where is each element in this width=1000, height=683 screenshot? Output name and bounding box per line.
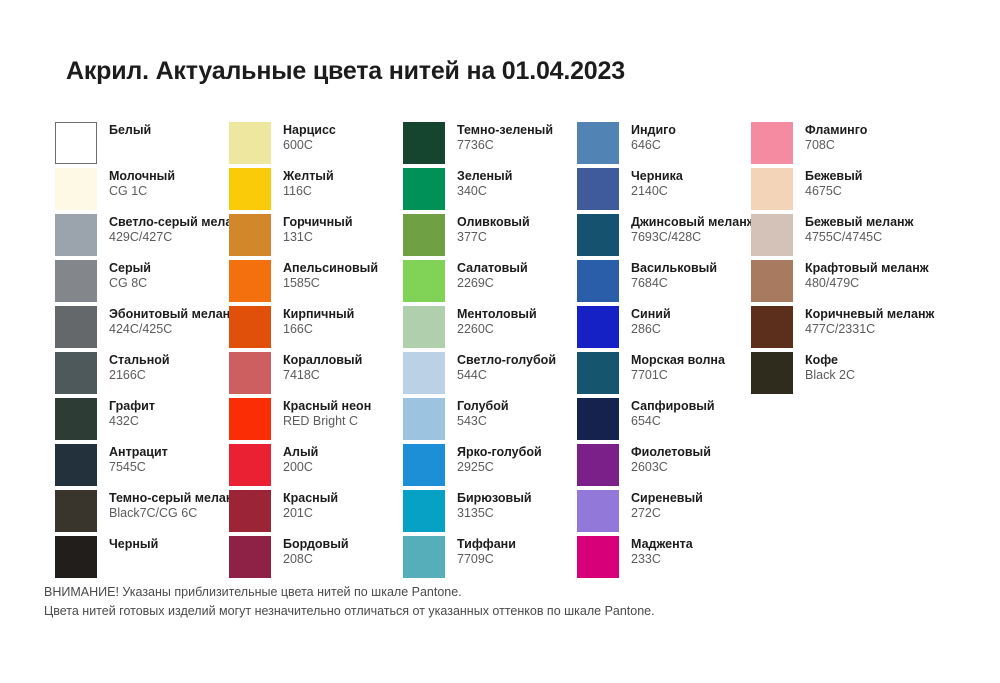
color-code: 646C [631,138,751,153]
swatch-row[interactable]: Джинсовый меланж 7693C/428C [577,214,751,260]
swatch-labels: Коричневый меланж 477C/2331C [793,306,951,337]
swatch-labels: Белый [97,122,229,138]
swatch-labels: Васильковый 7684C [619,260,751,291]
swatch-labels: Оливковый 377C [445,214,577,245]
color-name: Сапфировый [631,399,751,414]
swatch-labels: Темно-зеленый 7736C [445,122,577,153]
swatch-row[interactable]: Кирпичный 166C [229,306,403,352]
color-swatch[interactable] [751,352,793,394]
color-code: 208C [283,552,403,567]
swatch-row[interactable]: Светло-серый меланж 429C/427C [55,214,229,260]
color-swatch[interactable] [229,214,271,256]
color-code: 7736C [457,138,577,153]
swatch-labels: Алый 200C [271,444,403,475]
swatch-row[interactable]: Кофе Black 2C [751,352,951,398]
swatch-labels: Кофе Black 2C [793,352,951,383]
swatch-column-5: Фламинго 708C Бежевый 4675C Бежевый мела… [751,122,951,582]
color-swatch[interactable] [55,398,97,440]
color-swatch[interactable] [751,214,793,256]
color-name: Бирюзовый [457,491,577,506]
color-swatch[interactable] [229,260,271,302]
color-code: 2925C [457,460,577,475]
swatch-labels: Фламинго 708C [793,122,951,153]
color-name: Светло-серый меланж [109,215,229,230]
swatch-row[interactable]: Белый [55,122,229,168]
swatch-labels: Черный [97,536,229,552]
swatch-row[interactable]: Коричневый меланж 477C/2331C [751,306,951,352]
color-code: 166C [283,322,403,337]
swatch-row[interactable]: Ярко-голубой 2925C [403,444,577,490]
color-code: Black 2C [805,368,951,383]
color-swatch[interactable] [55,490,97,532]
swatch-row[interactable]: Салатовый 2269C [403,260,577,306]
swatch-column-1: Белый Молочный CG 1C Светло-серый меланж… [55,122,229,582]
color-code: RED Bright C [283,414,403,429]
color-code: 4755C/4745C [805,230,951,245]
color-swatch[interactable] [403,260,445,302]
color-swatch[interactable] [751,168,793,210]
swatch-row[interactable]: Сиреневый 272C [577,490,751,536]
swatch-labels: Бежевый меланж 4755C/4745C [793,214,951,245]
color-name: Зеленый [457,169,577,184]
swatch-row[interactable]: Ментоловый 2260C [403,306,577,352]
color-code: 200C [283,460,403,475]
swatch-row[interactable]: Серый CG 8C [55,260,229,306]
swatch-labels: Бежевый 4675C [793,168,951,199]
color-code: 2140C [631,184,751,199]
color-code: 286C [631,322,751,337]
color-code: Black7C/CG 6C [109,506,229,521]
color-code: 429C/427C [109,230,229,245]
color-name: Джинсовый меланж [631,215,751,230]
color-swatch[interactable] [55,444,97,486]
color-code: 600C [283,138,403,153]
swatch-row[interactable]: Коралловый 7418C [229,352,403,398]
color-swatch[interactable] [577,490,619,532]
swatch-labels: Стальной 2166C [97,352,229,383]
swatch-column-3: Темно-зеленый 7736C Зеленый 340C Оливков… [403,122,577,582]
color-swatch[interactable] [55,168,97,210]
color-swatch[interactable] [403,398,445,440]
swatch-row[interactable]: Апельсиновый 1585C [229,260,403,306]
color-code: 654C [631,414,751,429]
color-name: Желтый [283,169,403,184]
color-name: Апельсиновый [283,261,403,276]
color-swatch[interactable] [55,352,97,394]
swatch-labels: Крафтовый меланж 480/479C [793,260,951,291]
swatch-labels: Светло-серый меланж 429C/427C [97,214,229,245]
color-code: 2269C [457,276,577,291]
color-code: 7418C [283,368,403,383]
color-swatch[interactable] [55,260,97,302]
color-name: Молочный [109,169,229,184]
swatch-labels: Фиолетовый 2603C [619,444,751,475]
color-name: Нарцисс [283,123,403,138]
color-swatch[interactable] [403,122,445,164]
swatch-labels: Маджента 233C [619,536,751,567]
color-name: Бордовый [283,537,403,552]
color-name: Кофе [805,353,951,368]
swatch-labels: Синий 286C [619,306,751,337]
swatch-labels: Графит 432C [97,398,229,429]
color-name: Эбонитовый меланж [109,307,229,322]
color-swatch[interactable] [403,444,445,486]
swatch-labels: Сиреневый 272C [619,490,751,521]
color-code: 340C [457,184,577,199]
color-swatch[interactable] [403,536,445,578]
color-code: CG 1C [109,184,229,199]
swatch-labels: Антрацит 7545C [97,444,229,475]
color-swatch[interactable] [55,122,97,164]
color-code: 477C/2331C [805,322,951,337]
color-name: Крафтовый меланж [805,261,951,276]
color-name: Алый [283,445,403,460]
swatch-row[interactable]: Бежевый 4675C [751,168,951,214]
color-name: Кирпичный [283,307,403,322]
swatch-labels: Зеленый 340C [445,168,577,199]
swatch-labels: Бирюзовый 3135C [445,490,577,521]
color-name: Стальной [109,353,229,368]
swatch-row[interactable]: Фламинго 708C [751,122,951,168]
swatch-row[interactable]: Бордовый 208C [229,536,403,582]
swatch-row[interactable]: Горчичный 131C [229,214,403,260]
color-name: Бежевый меланж [805,215,951,230]
swatch-row[interactable]: Светло-голубой 544C [403,352,577,398]
color-swatch[interactable] [229,122,271,164]
color-name: Темно-зеленый [457,123,577,138]
swatch-row[interactable]: Фиолетовый 2603C [577,444,751,490]
color-swatch[interactable] [229,444,271,486]
color-swatch[interactable] [55,214,97,256]
swatch-row[interactable]: Молочный CG 1C [55,168,229,214]
swatch-row[interactable]: Бирюзовый 3135C [403,490,577,536]
swatch-labels: Сапфировый 654C [619,398,751,429]
color-swatch[interactable] [751,260,793,302]
color-code: 116C [283,184,403,199]
swatch-labels: Ярко-голубой 2925C [445,444,577,475]
swatch-labels: Салатовый 2269C [445,260,577,291]
swatch-row[interactable]: Эбонитовый меланж 424C/425C [55,306,229,352]
swatch-row[interactable]: Антрацит 7545C [55,444,229,490]
color-swatch[interactable] [403,490,445,532]
color-code: 377C [457,230,577,245]
color-swatch[interactable] [577,536,619,578]
color-swatch[interactable] [577,306,619,348]
swatch-labels: Эбонитовый меланж 424C/425C [97,306,229,337]
swatch-row[interactable]: Морская волна 7701C [577,352,751,398]
swatch-row[interactable]: Нарцисс 600C [229,122,403,168]
color-code: 7701C [631,368,751,383]
color-swatch[interactable] [403,352,445,394]
swatch-labels: Морская волна 7701C [619,352,751,383]
color-swatch[interactable] [229,352,271,394]
color-code: 424C/425C [109,322,229,337]
color-swatch[interactable] [229,168,271,210]
color-name: Графит [109,399,229,414]
color-name: Темно-серый меланж [109,491,229,506]
color-code: 544C [457,368,577,383]
color-code: CG 8C [109,276,229,291]
color-code: 3135C [457,506,577,521]
color-name: Морская волна [631,353,751,368]
swatch-row[interactable]: Графит 432C [55,398,229,444]
footer-note: ВНИМАНИЕ! Указаны приблизительные цвета … [44,583,655,621]
color-name: Серый [109,261,229,276]
color-swatch[interactable] [229,306,271,348]
swatch-row[interactable]: Индиго 646C [577,122,751,168]
swatch-row[interactable]: Темно-зеленый 7736C [403,122,577,168]
color-name: Ментоловый [457,307,577,322]
color-swatch[interactable] [577,122,619,164]
swatch-labels: Ментоловый 2260C [445,306,577,337]
swatch-column-2: Нарцисс 600C Желтый 116C Горчичный 131C [229,122,403,582]
page-title: Акрил. Актуальные цвета нитей на 01.04.2… [66,57,625,86]
swatch-column-4: Индиго 646C Черника 2140C Джинсовый мела… [577,122,751,582]
swatch-labels: Желтый 116C [271,168,403,199]
swatch-labels: Кирпичный 166C [271,306,403,337]
footer-line-1: ВНИМАНИЕ! Указаны приблизительные цвета … [44,583,655,602]
color-code: 7693C/428C [631,230,751,245]
color-name: Оливковый [457,215,577,230]
swatch-row[interactable]: Васильковый 7684C [577,260,751,306]
swatch-row[interactable]: Крафтовый меланж 480/479C [751,260,951,306]
color-swatch[interactable] [229,398,271,440]
color-code: 2603C [631,460,751,475]
swatch-row[interactable]: Синий 286C [577,306,751,352]
color-code: 201C [283,506,403,521]
color-swatch[interactable] [577,352,619,394]
swatch-row[interactable]: Красный 201C [229,490,403,536]
color-name: Коралловый [283,353,403,368]
color-name: Красный [283,491,403,506]
swatch-labels: Нарцисс 600C [271,122,403,153]
color-code: 4675C [805,184,951,199]
swatch-labels: Красный 201C [271,490,403,521]
color-swatch[interactable] [403,214,445,256]
color-name: Индиго [631,123,751,138]
color-code: 708C [805,138,951,153]
swatch-grid: Белый Молочный CG 1C Светло-серый меланж… [55,122,985,582]
swatch-labels: Тиффани 7709C [445,536,577,567]
swatch-row[interactable]: Темно-серый меланж Black7C/CG 6C [55,490,229,536]
swatch-labels: Голубой 543C [445,398,577,429]
color-code: 233C [631,552,751,567]
color-swatch[interactable] [577,444,619,486]
swatch-row[interactable]: Голубой 543C [403,398,577,444]
color-name: Васильковый [631,261,751,276]
color-swatch[interactable] [229,490,271,532]
color-swatch[interactable] [55,306,97,348]
color-name: Ярко-голубой [457,445,577,460]
color-code: 131C [283,230,403,245]
color-code: 7709C [457,552,577,567]
swatch-labels: Темно-серый меланж Black7C/CG 6C [97,490,229,521]
color-swatch[interactable] [577,168,619,210]
color-code: 272C [631,506,751,521]
color-name: Черника [631,169,751,184]
color-code: 432C [109,414,229,429]
swatch-labels: Черника 2140C [619,168,751,199]
color-code: 480/479C [805,276,951,291]
color-name: Салатовый [457,261,577,276]
swatch-labels: Коралловый 7418C [271,352,403,383]
swatch-row[interactable]: Желтый 116C [229,168,403,214]
color-name: Голубой [457,399,577,414]
swatch-labels: Серый CG 8C [97,260,229,291]
color-name: Коричневый меланж [805,307,951,322]
color-name: Синий [631,307,751,322]
color-name: Светло-голубой [457,353,577,368]
swatch-labels: Горчичный 131C [271,214,403,245]
color-name: Красный неон [283,399,403,414]
color-swatch[interactable] [577,260,619,302]
color-name: Бежевый [805,169,951,184]
swatch-labels: Красный неон RED Bright C [271,398,403,429]
color-code: 1585C [283,276,403,291]
swatch-row[interactable]: Алый 200C [229,444,403,490]
swatch-row[interactable]: Черника 2140C [577,168,751,214]
swatch-labels: Бордовый 208C [271,536,403,567]
color-name: Горчичный [283,215,403,230]
swatch-labels: Апельсиновый 1585C [271,260,403,291]
color-chart-page: Акрил. Актуальные цвета нитей на 01.04.2… [0,0,1000,683]
color-swatch[interactable] [577,398,619,440]
color-code: 7684C [631,276,751,291]
color-swatch[interactable] [55,536,97,578]
swatch-row[interactable]: Стальной 2166C [55,352,229,398]
color-code: 7545C [109,460,229,475]
color-name: Антрацит [109,445,229,460]
color-code: 2260C [457,322,577,337]
color-swatch[interactable] [403,306,445,348]
color-name: Маджента [631,537,751,552]
color-swatch[interactable] [751,122,793,164]
swatch-labels: Молочный CG 1C [97,168,229,199]
swatch-row[interactable]: Сапфировый 654C [577,398,751,444]
swatch-row[interactable]: Черный [55,536,229,582]
color-name: Черный [109,537,229,552]
footer-line-2: Цвета нитей готовых изделий могут незнач… [44,602,655,621]
swatch-row[interactable]: Маджента 233C [577,536,751,582]
swatch-row[interactable]: Бежевый меланж 4755C/4745C [751,214,951,260]
swatch-row[interactable]: Зеленый 340C [403,168,577,214]
swatch-labels: Индиго 646C [619,122,751,153]
color-swatch[interactable] [751,306,793,348]
color-swatch[interactable] [403,168,445,210]
color-name: Белый [109,123,229,138]
color-code: 2166C [109,368,229,383]
color-name: Сиреневый [631,491,751,506]
swatch-labels: Светло-голубой 544C [445,352,577,383]
swatch-row[interactable]: Тиффани 7709C [403,536,577,582]
color-name: Тиффани [457,537,577,552]
swatch-row[interactable]: Красный неон RED Bright C [229,398,403,444]
color-swatch[interactable] [229,536,271,578]
swatch-labels: Джинсовый меланж 7693C/428C [619,214,751,245]
color-name: Фламинго [805,123,951,138]
color-name: Фиолетовый [631,445,751,460]
swatch-row[interactable]: Оливковый 377C [403,214,577,260]
color-code: 543C [457,414,577,429]
color-swatch[interactable] [577,214,619,256]
